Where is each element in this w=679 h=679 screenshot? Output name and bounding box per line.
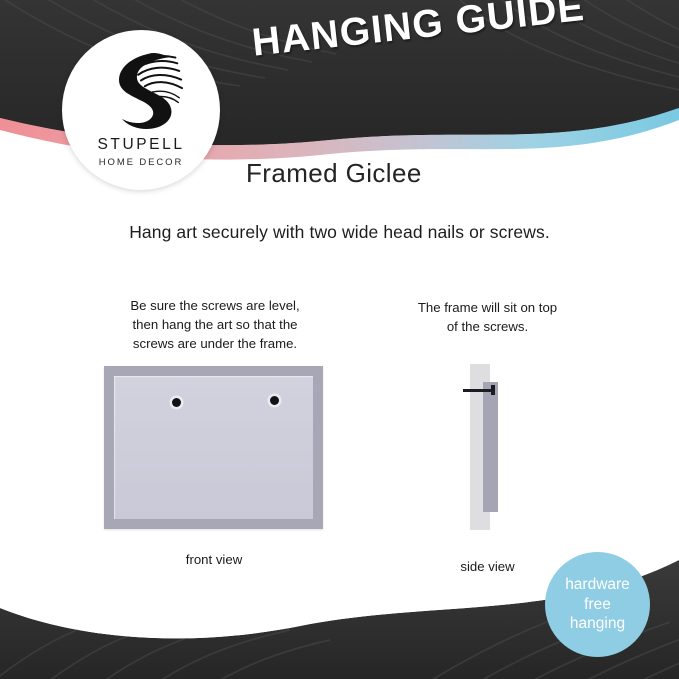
lead-instruction: Hang art securely with two wide head nai… [0,222,679,243]
brand-name: STUPELL [97,136,184,154]
screw-dot-left [172,398,181,407]
front-view-frame-inner [114,376,313,519]
screw-dot-right [270,396,279,405]
badge-line-2: free [584,595,611,615]
front-instruction-line-2: then hang the art so that the [100,315,330,334]
side-instruction-line-2: of the screws. [380,317,595,336]
badge-line-1: hardware [565,575,630,595]
side-view-instructions: The frame will sit on top of the screws. [380,298,595,336]
brand-tagline: HOME DECOR [99,157,183,168]
front-instruction-line-1: Be sure the screws are level, [100,296,330,315]
brand-logo-badge: STUPELL HOME DECOR [62,30,220,190]
front-instruction-line-3: screws are under the frame. [100,334,330,353]
badge-line-3: hanging [570,614,625,634]
product-type-label: Framed Giclee [246,158,422,189]
side-view-screw-head [491,385,495,395]
page-title: HANGING GUIDE [250,0,587,66]
front-view-caption: front view [100,552,328,567]
front-view-instructions: Be sure the screws are level, then hang … [100,296,330,353]
side-instruction-line-1: The frame will sit on top [380,298,595,317]
hanging-guide-page: STUPELL HOME DECOR HANGING GUIDE Framed … [0,0,679,679]
stupell-swoosh-logo-icon [93,48,189,134]
hardware-free-badge: hardware free hanging [545,552,650,657]
side-view-frame [483,382,498,512]
front-view-frame-diagram [104,366,323,529]
